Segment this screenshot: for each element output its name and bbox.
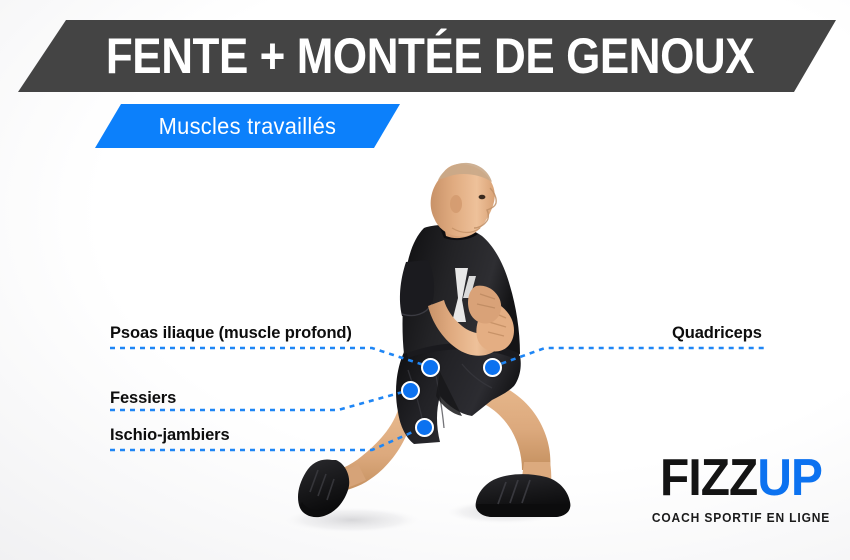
poster-canvas: FENTE + MONTÉE DE GENOUX Muscles travail… <box>0 0 850 560</box>
marker-dot-ischio <box>415 418 434 437</box>
leader-line-psoas <box>110 348 430 367</box>
logo-tagline: COACH SPORTIF EN LIGNE <box>650 511 832 525</box>
fizzup-logo: FIZZUP COACH SPORTIF EN LIGNE <box>646 452 836 525</box>
label-ischio-jambiers: Ischio-jambiers <box>110 426 230 445</box>
leader-line-quadriceps <box>492 348 765 367</box>
label-quadriceps: Quadriceps <box>672 324 762 343</box>
logo-up-text: UP <box>757 449 822 507</box>
label-psoas: Psoas iliaque (muscle profond) <box>110 324 352 343</box>
logo-wordmark: FIZZUP <box>654 452 829 504</box>
logo-fizz-text: FIZZ <box>660 449 757 507</box>
marker-dot-psoas <box>421 358 440 377</box>
marker-dot-fessiers <box>401 381 420 400</box>
marker-dot-quadriceps <box>483 358 502 377</box>
label-fessiers: Fessiers <box>110 389 176 408</box>
